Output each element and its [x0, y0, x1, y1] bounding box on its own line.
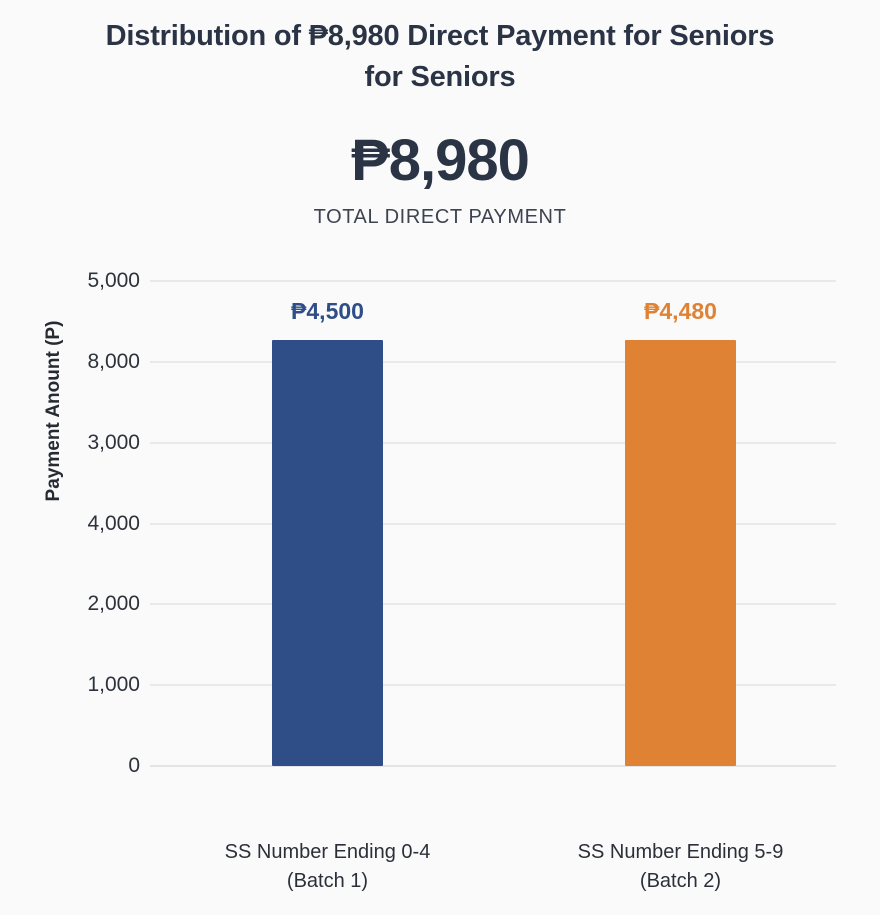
x-axis-tick-line: (Batch 1) — [148, 867, 508, 896]
bar-value-label: ₱4,480 — [561, 298, 801, 325]
bar-rect[interactable] — [272, 340, 383, 766]
x-axis-tick-line: SS Number Ending 0-4 — [148, 838, 508, 867]
bar-value-label: ₱4,500 — [208, 298, 448, 325]
plot-area: Payment Anount (P) 5,0008,0003,0004,0002… — [0, 0, 880, 915]
x-axis-tick-label: SS Number Ending 0-4(Batch 1) — [148, 838, 508, 896]
x-axis-tick-line: SS Number Ending 5-9 — [501, 838, 861, 867]
chart-figure: Distribution of ₱8,980 Direct Payment fo… — [0, 0, 880, 915]
bar-series: ₱4,500SS Number Ending 0-4(Batch 1)₱4,48… — [0, 0, 880, 915]
x-axis-tick-label: SS Number Ending 5-9(Batch 2) — [501, 838, 861, 896]
x-axis-tick-line: (Batch 2) — [501, 867, 861, 896]
bar-rect[interactable] — [625, 340, 736, 766]
